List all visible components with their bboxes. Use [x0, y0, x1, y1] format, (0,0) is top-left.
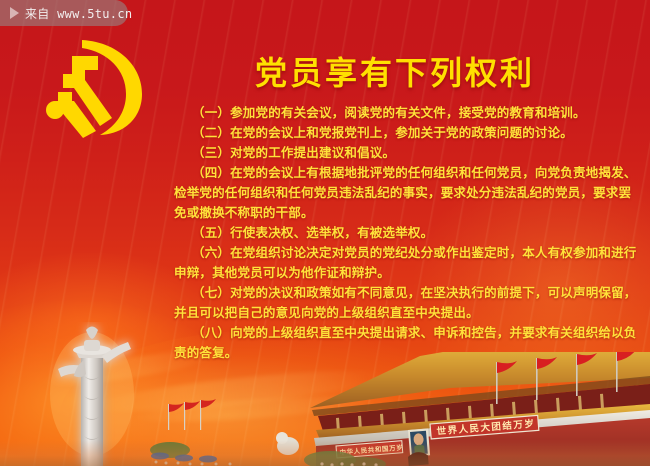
small-red-flags — [168, 399, 216, 430]
clause-item: （二）在党的会议上和党报党刊上，参加关于党的政策问题的讨论。 — [174, 123, 640, 143]
watermark-text: 来自 www.5tu.cn — [25, 5, 132, 22]
clause-item: （五）行使表决权、选举权，有被选举权。 — [174, 223, 640, 243]
play-triangle-icon — [10, 7, 19, 19]
clause-item: （七）对党的决议和政策如有不同意见，在坚决执行的前提下，可以声明保留，并且可以把… — [174, 283, 640, 323]
plaza-ground — [0, 440, 650, 466]
clause-item: （三）对党的工作提出建议和倡议。 — [174, 143, 640, 163]
clause-item: （六）在党组织讨论决定对党员的党纪处分或作出鉴定时，本人有权参加和进行申辩，其他… — [174, 243, 640, 283]
rights-list: （一）参加党的有关会议，阅读党的有关文件，接受党的教育和培训。 （二）在党的会议… — [174, 103, 640, 363]
watermark-bar: 来自 www.5tu.cn — [0, 0, 128, 26]
poster-canvas: 党员享有下列权利 （一）参加党的有关会议，阅读党的有关文件，接受党的教育和培训。… — [0, 0, 650, 466]
clause-item: （一）参加党的有关会议，阅读党的有关文件，接受党的教育和培训。 — [174, 103, 640, 123]
clause-item: （四）在党的会议上有根据地批评党的任何组织和任何党员，向党负责地揭发、检举党的任… — [174, 163, 640, 223]
page-title: 党员享有下列权利 — [195, 48, 595, 94]
cpc-hammer-sickle-emblem — [38, 34, 154, 144]
